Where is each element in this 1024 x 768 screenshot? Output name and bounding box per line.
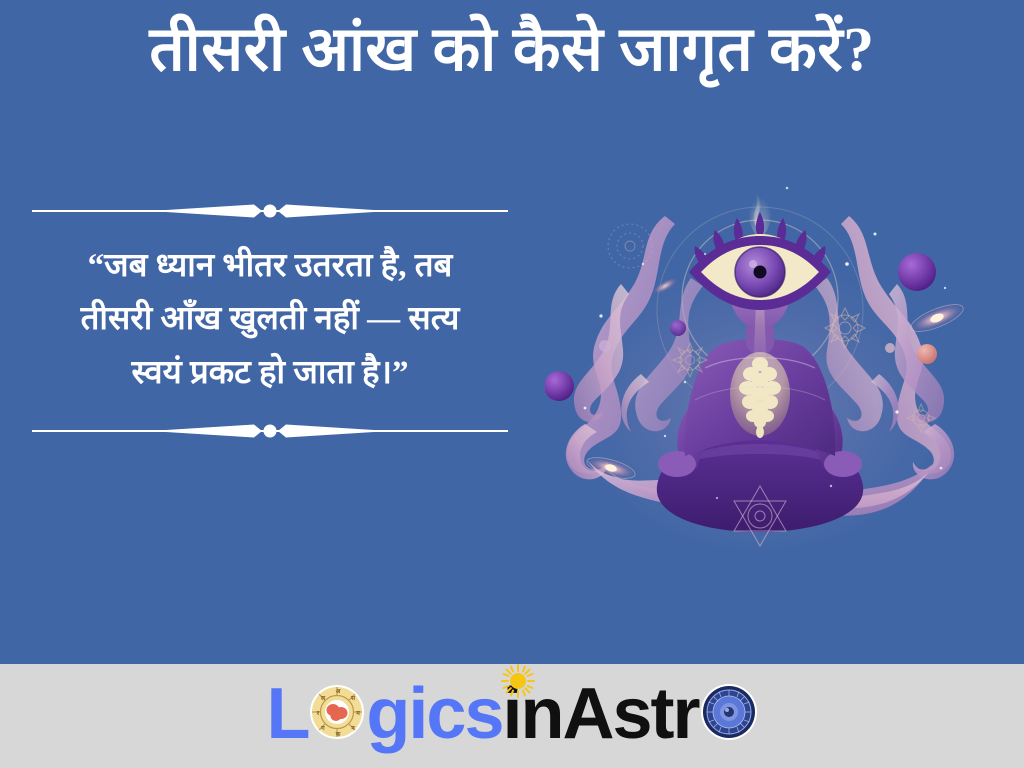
quote-line-3: स्वयं प्रकट हो जाता है।” [30, 347, 510, 400]
zodiac-wheel-icon [700, 681, 758, 739]
eye-highlight [749, 260, 757, 268]
planet-small-1 [670, 320, 686, 336]
planet-pink [917, 344, 937, 364]
galaxy-right [908, 299, 967, 337]
planet-purple-large [898, 253, 936, 291]
kundali-wheel-icon: अ क र म ल स ग न [309, 680, 365, 736]
divider-top [24, 196, 516, 226]
footer-bar: L [0, 664, 1024, 768]
divider-bottom [24, 416, 516, 446]
logo-text-g: g [366, 678, 408, 750]
logo-letter-i-with-sun: i [503, 678, 521, 750]
main-blue-panel: तीसरी आंख को कैसे जागृत करें? “जब ध्यान … [0, 0, 1024, 664]
planet-purple-left [545, 371, 574, 401]
page-title: तीसरी आंख को कैसे जागृत करें? [0, 14, 1024, 87]
eye-pupil [754, 266, 767, 279]
divider-ornament-icon [150, 199, 390, 223]
planet-small-2 [599, 340, 611, 352]
quote-line-1: “जब ध्यान भीतर उतरता है, तब [30, 240, 510, 293]
right-hand [824, 451, 862, 477]
sun-icon [501, 638, 535, 672]
logo-text-L: L [266, 678, 308, 750]
left-hand [658, 451, 696, 477]
logo-text-ics: ics [408, 678, 502, 750]
poster-canvas: तीसरी आंख को कैसे जागृत करें? “जब ध्यान … [0, 0, 1024, 768]
third-eye-meditation-illustration [545, 168, 975, 568]
planet-small-3 [885, 343, 895, 353]
divider-ornament-icon [150, 419, 390, 443]
brand-logo[interactable]: L [266, 678, 757, 754]
logo-text-Astr: Astr [563, 678, 699, 750]
logo-text-n: n [521, 678, 563, 750]
quote-text: “जब ध्यान भीतर उतरता है, तब तीसरी आँख खु… [24, 240, 516, 400]
quote-block: “जब ध्यान भीतर उतरता है, तब तीसरी आँख खु… [24, 196, 516, 446]
quote-line-2: तीसरी आँख खुलती नहीं — सत्य [30, 293, 510, 346]
